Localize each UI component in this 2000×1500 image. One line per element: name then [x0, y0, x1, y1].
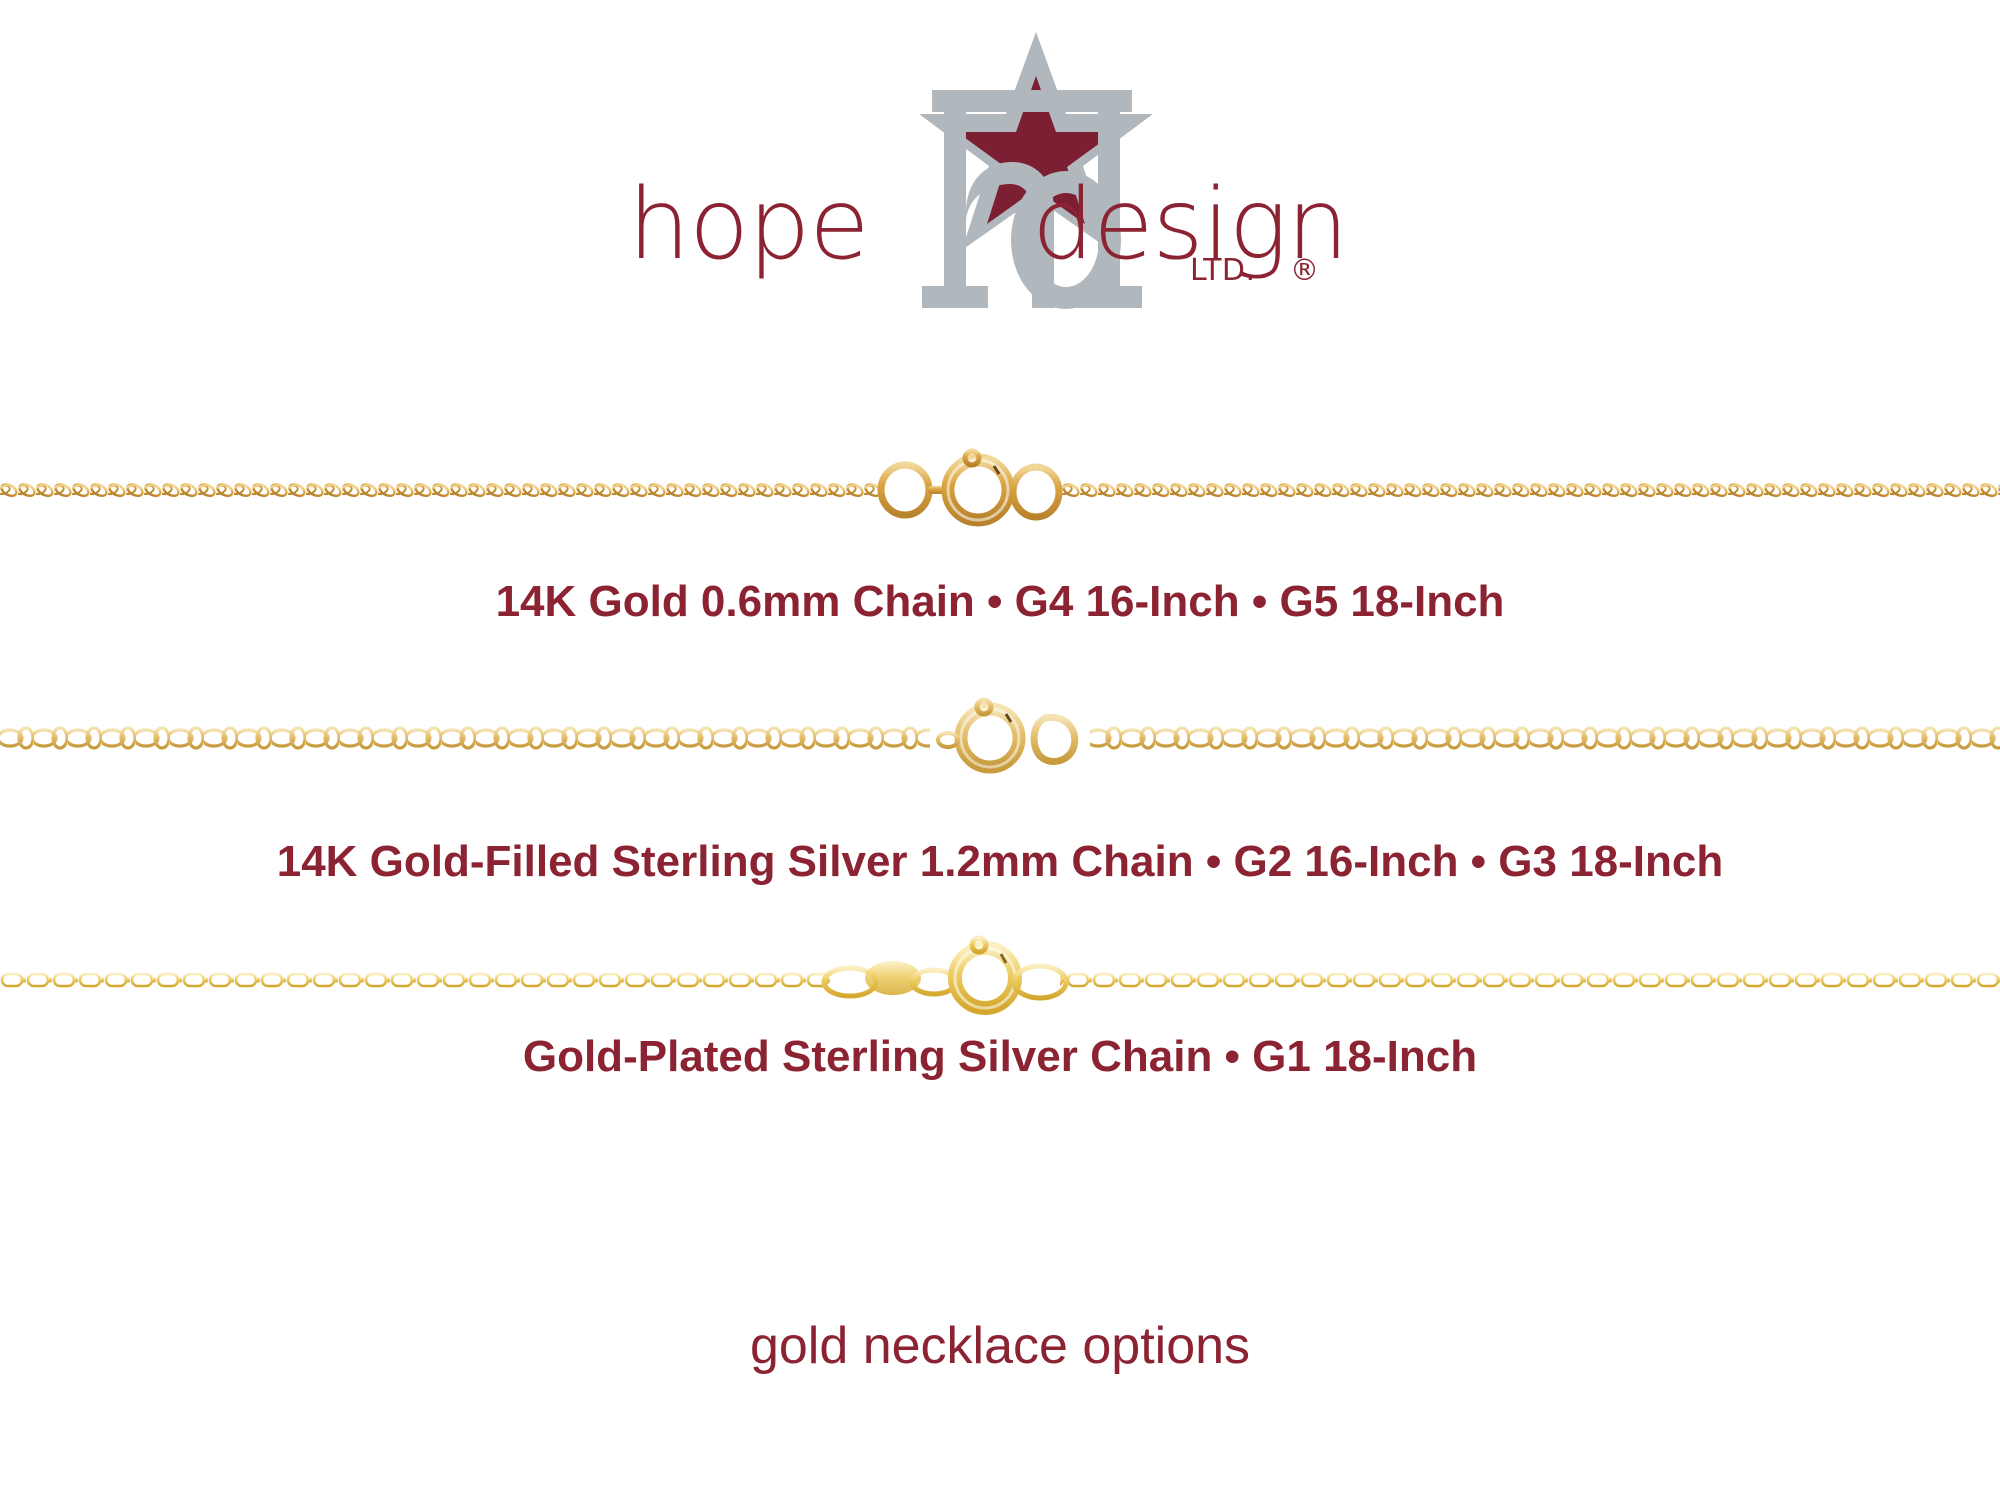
monogram-h-stem: [944, 90, 966, 308]
product-image-chain-2: [0, 678, 2000, 798]
chain-1-graphic: [0, 430, 2000, 550]
chain-2-graphic: [0, 678, 2000, 798]
logo-word-hope: hope: [628, 176, 869, 274]
footer-caption: gold necklace options: [0, 1320, 2000, 1372]
brand-logo: hope design: [0, 28, 2000, 318]
product-spec-chain-1: 14K Gold 0.6mm Chain • G4 16-Inch • G5 1…: [0, 580, 2000, 624]
product-spec-chain-2: 14K Gold-Filled Sterling Silver 1.2mm Ch…: [0, 840, 2000, 884]
logo-ltd-suffix: LTD.: [1190, 256, 1256, 286]
product-image-chain-1: [0, 430, 2000, 550]
registered-trademark-icon: ®: [1290, 256, 1319, 285]
product-image-chain-3: [0, 920, 2000, 1040]
monogram-h-foot: [922, 286, 988, 308]
product-spec-chain-3: Gold-Plated Sterling Silver Chain • G1 1…: [0, 1035, 2000, 1079]
chain-3-graphic: [0, 920, 2000, 1040]
